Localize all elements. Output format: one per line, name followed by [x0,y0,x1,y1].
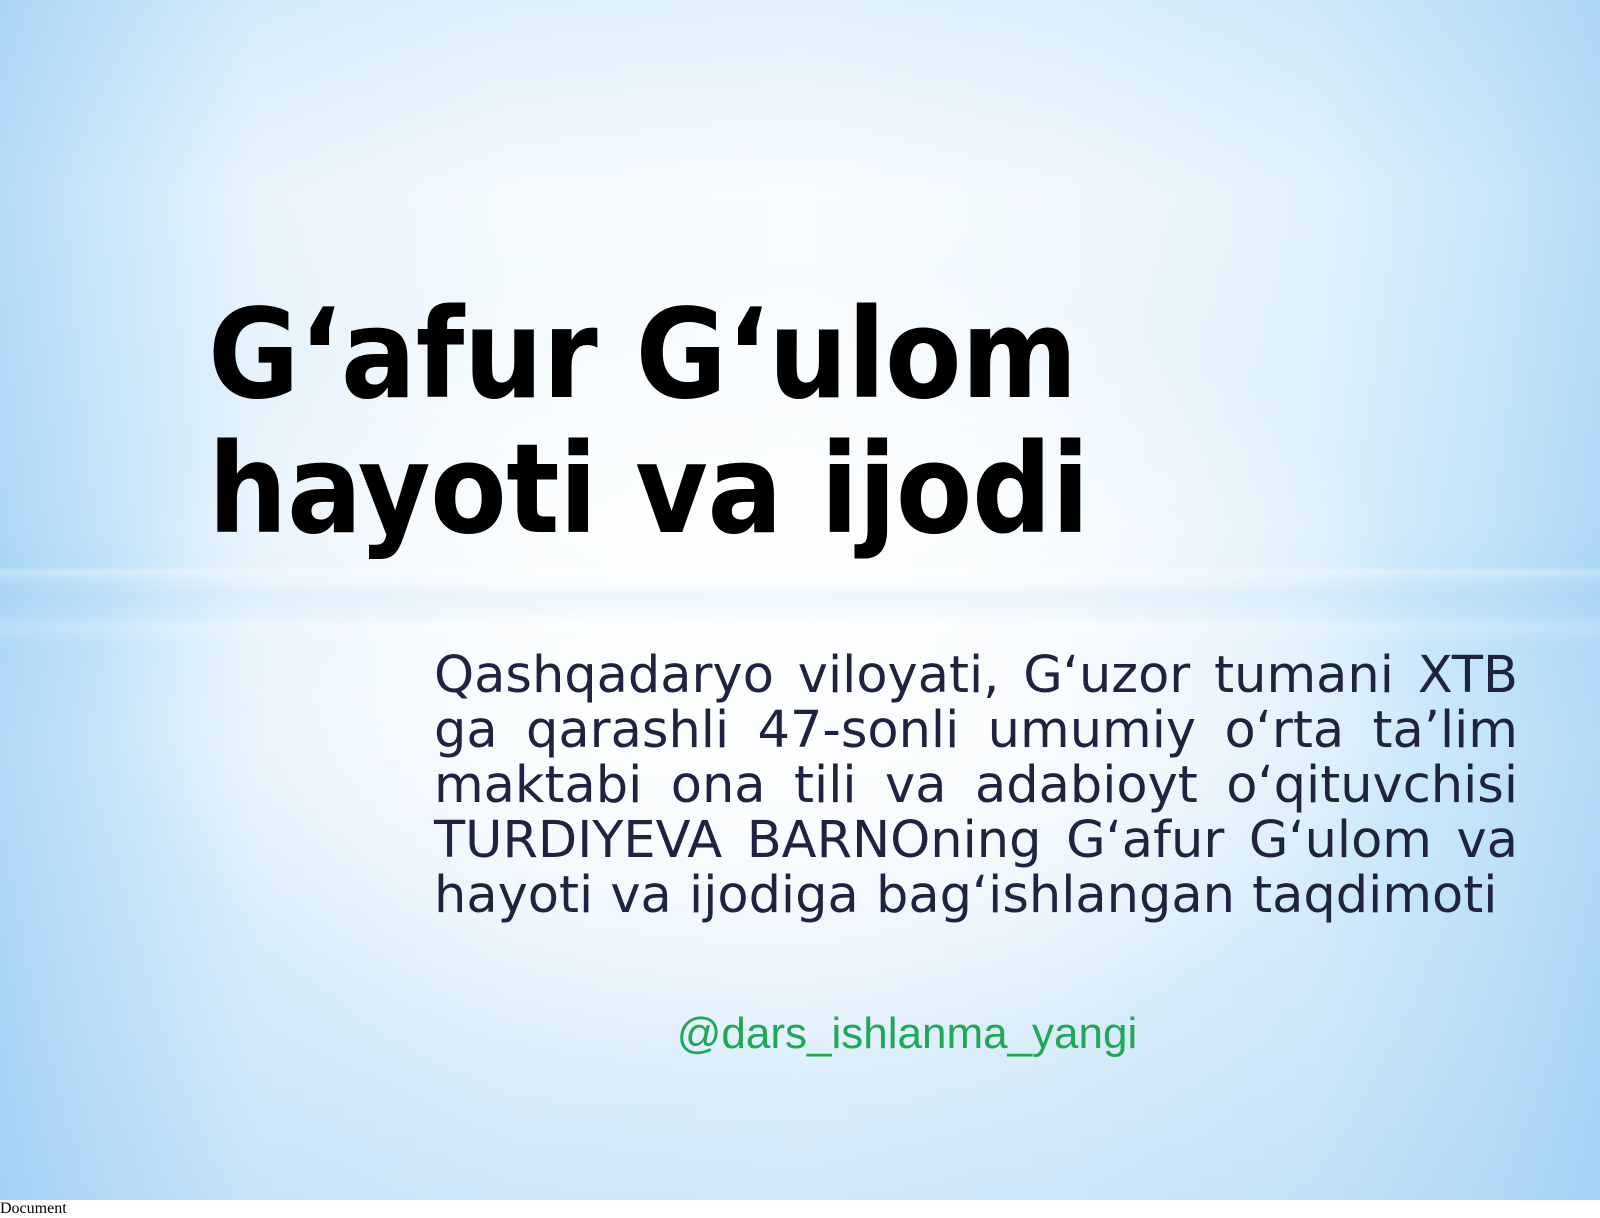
slide-subtitle-paragraph: Qashqadaryo viloyati, G‘uzor tumani XTB … [434,648,1518,923]
presentation-slide: G‘afur G‘ulom hayoti va ijodi Qashqadary… [0,0,1600,1200]
background-center-glow [0,48,1600,1152]
telegram-handle-text: @dars_ishlanma_yangi [434,1008,1518,1060]
slide-title: G‘afur G‘ulom hayoti va ijodi [208,288,1398,558]
